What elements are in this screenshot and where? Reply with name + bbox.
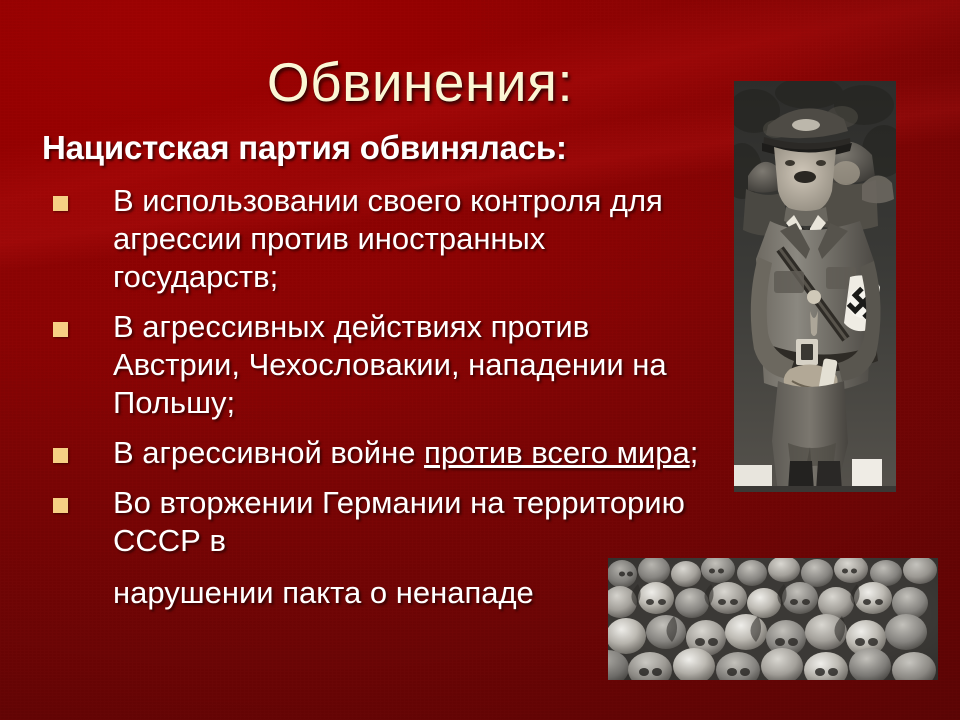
list-item-label: В использовании своего контроля для агре…	[113, 182, 700, 296]
slide-subtitle: Нацистская партия обвинялась:	[42, 129, 567, 167]
list-item: В агрессивных действиях против Австрии, …	[0, 308, 700, 422]
square-bullet-icon	[53, 498, 68, 513]
presentation-slide: Обвинения: Нацистская партия обвинялась:…	[0, 0, 960, 720]
slide-title: Обвинения:	[120, 52, 720, 112]
square-bullet-icon	[53, 448, 68, 463]
list-item: Во вторжении Германии на территорию СССР…	[0, 484, 700, 560]
square-bullet-icon	[53, 322, 68, 337]
list-item-label: В агрессивной войне против всего мира;	[113, 434, 700, 472]
list-item-text-after: ;	[690, 435, 699, 470]
list-item: В использовании своего контроля для агре…	[0, 182, 700, 296]
square-bullet-icon	[53, 196, 68, 211]
historical-photo-skulls	[608, 558, 938, 680]
historical-photo-uniformed-figure	[734, 81, 896, 492]
list-item-text-underlined: против всего мира	[424, 435, 690, 470]
bullet-list: В использовании своего контроля для агре…	[0, 182, 700, 612]
list-item-text-before: В агрессивной войне	[113, 435, 424, 470]
list-item-continuation-line: нарушении пакта о ненападе	[0, 574, 700, 612]
list-item: В агрессивной войне против всего мира;	[0, 434, 700, 472]
list-item-label: В агрессивных действиях против Австрии, …	[113, 308, 700, 422]
list-item-label: Во вторжении Германии на территорию СССР…	[113, 484, 700, 560]
